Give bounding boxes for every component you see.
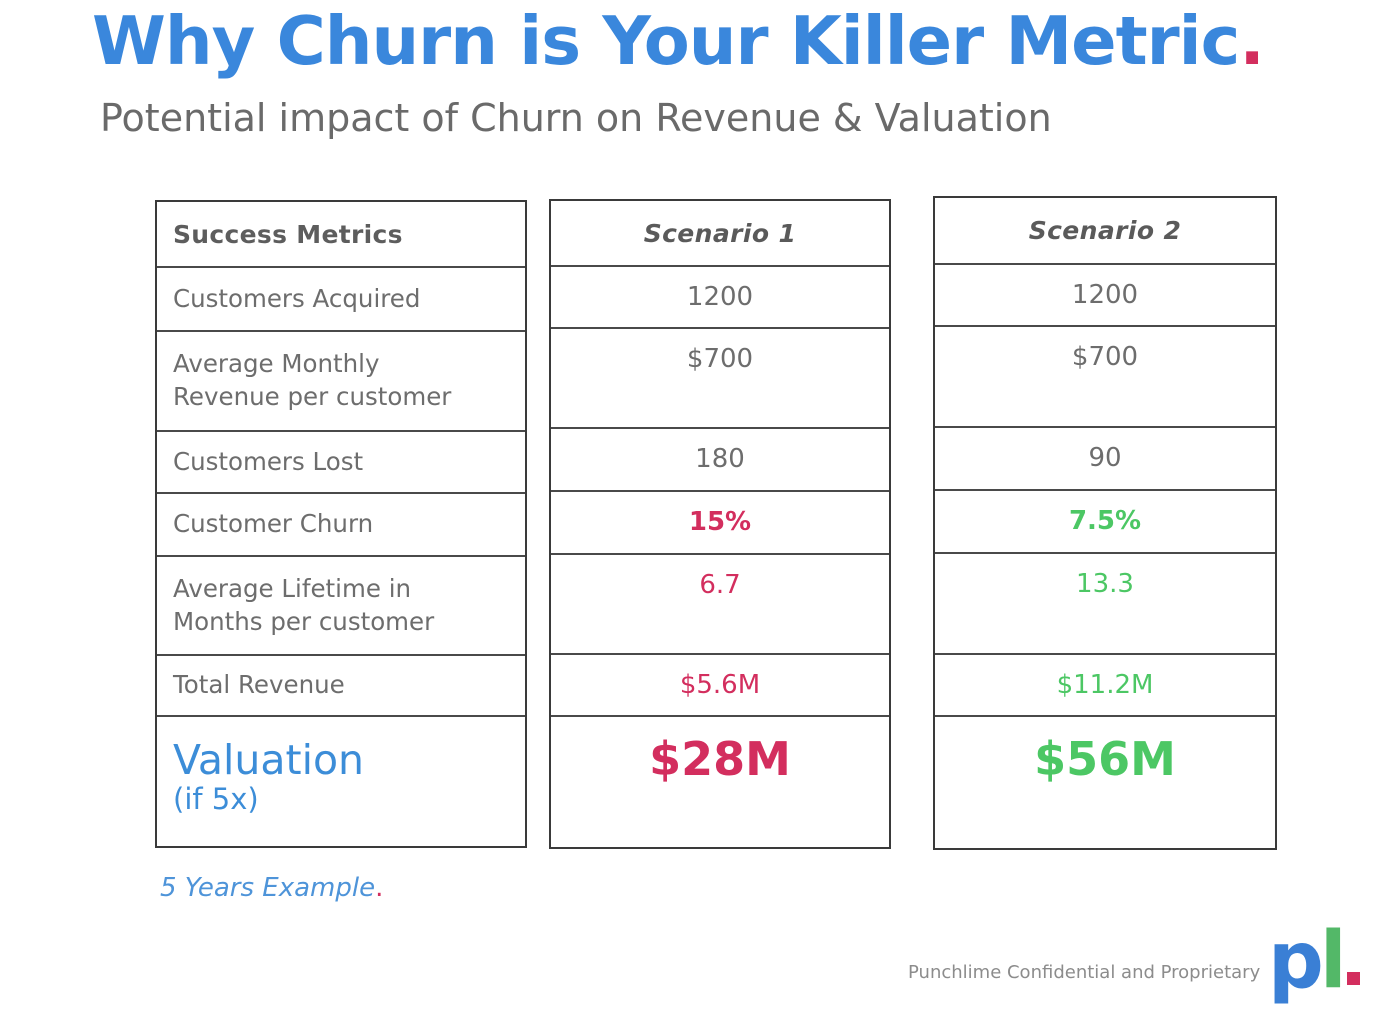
- table-cell: $5.6M: [551, 655, 889, 717]
- table-row: Customers Lost: [157, 432, 525, 494]
- table-row: Customers Acquired: [157, 268, 525, 332]
- scenario2-customers-lost: 90: [935, 428, 1275, 471]
- scenario2-table: Scenario 2 1200 $700 90 7.5% 13.3 $11.2M…: [933, 196, 1277, 850]
- table-cell: $11.2M: [935, 655, 1275, 717]
- table-row: Average Monthly Revenue per customer: [157, 332, 525, 432]
- footnote: 5 Years Example.: [160, 873, 383, 903]
- metric-label-total-revenue: Total Revenue: [173, 669, 345, 702]
- scenario1-customers-acquired: 1200: [551, 267, 889, 310]
- scenario2-column-header: Scenario 2: [935, 198, 1275, 243]
- scenario1-avg-monthly-revenue: $700: [551, 329, 889, 372]
- scenario1-total-revenue: $5.6M: [551, 655, 889, 698]
- success-metrics-table: Success Metrics Customers Acquired Avera…: [155, 200, 527, 848]
- metric-label-customers-lost: Customers Lost: [173, 446, 363, 479]
- page-subtitle: Potential impact of Churn on Revenue & V…: [100, 96, 1052, 140]
- scenario1-header-row: Scenario 1: [551, 201, 889, 267]
- table-cell: 90: [935, 428, 1275, 491]
- table-cell: 13.3: [935, 554, 1275, 655]
- punchlime-logo: pl: [1268, 922, 1380, 1002]
- table-row: Customer Churn: [157, 494, 525, 557]
- scenario1-table: Scenario 1 1200 $700 180 15% 6.7 $5.6M $…: [549, 199, 891, 849]
- metrics-column-header: Success Metrics: [173, 220, 403, 249]
- metric-label-valuation: Valuation: [173, 739, 525, 782]
- table-cell: 15%: [551, 492, 889, 555]
- scenario2-header-row: Scenario 2: [935, 198, 1275, 265]
- scenario1-valuation: $28M: [551, 717, 889, 782]
- page-title: Why Churn is Your Killer Metric.: [92, 8, 1264, 75]
- scenario2-customer-churn: 7.5%: [935, 491, 1275, 534]
- footnote-text: 5 Years Example: [160, 873, 375, 903]
- page-title-text: Why Churn is Your Killer Metric: [92, 2, 1239, 80]
- scenario1-customer-churn: 15%: [551, 492, 889, 535]
- table-row: Total Revenue: [157, 656, 525, 717]
- footnote-accent-dot: .: [375, 873, 383, 903]
- table-cell: $700: [551, 329, 889, 429]
- page-title-accent-dot: .: [1239, 2, 1263, 80]
- table-cell: 1200: [551, 267, 889, 329]
- scenario2-customers-acquired: 1200: [935, 265, 1275, 308]
- scenario1-customers-lost: 180: [551, 429, 889, 472]
- logo-square-dot-icon: [1347, 972, 1360, 985]
- scenario2-avg-monthly-revenue: $700: [935, 327, 1275, 370]
- scenario2-avg-lifetime: 13.3: [935, 554, 1275, 597]
- table-cell-valuation: $56M: [935, 717, 1275, 847]
- table-cell-valuation: $28M: [551, 717, 889, 847]
- scenario1-column-header: Scenario 1: [551, 201, 889, 246]
- logo-letter-l: l: [1320, 916, 1345, 1006]
- scenario1-avg-lifetime: 6.7: [551, 555, 889, 598]
- metric-label-avg-lifetime: Average Lifetime in Months per customer: [173, 573, 434, 639]
- metrics-header-row: Success Metrics: [157, 202, 525, 268]
- logo-letter-p: p: [1268, 916, 1320, 1006]
- confidentiality-notice: Punchlime Confidential and Proprietary: [908, 962, 1260, 983]
- table-cell: 7.5%: [935, 491, 1275, 554]
- table-cell: $700: [935, 327, 1275, 428]
- scenario2-total-revenue: $11.2M: [935, 655, 1275, 698]
- metric-label-customers-acquired: Customers Acquired: [173, 283, 420, 316]
- table-row: Average Lifetime in Months per customer: [157, 557, 525, 656]
- table-cell: 180: [551, 429, 889, 492]
- table-cell: 1200: [935, 265, 1275, 327]
- metric-label-customer-churn: Customer Churn: [173, 508, 373, 541]
- table-row-valuation: Valuation (if 5x): [157, 717, 525, 846]
- scenario2-valuation: $56M: [935, 717, 1275, 782]
- metric-label-avg-monthly-revenue: Average Monthly Revenue per customer: [173, 348, 451, 414]
- metric-label-valuation-multiple: (if 5x): [173, 782, 525, 817]
- table-cell: 6.7: [551, 555, 889, 655]
